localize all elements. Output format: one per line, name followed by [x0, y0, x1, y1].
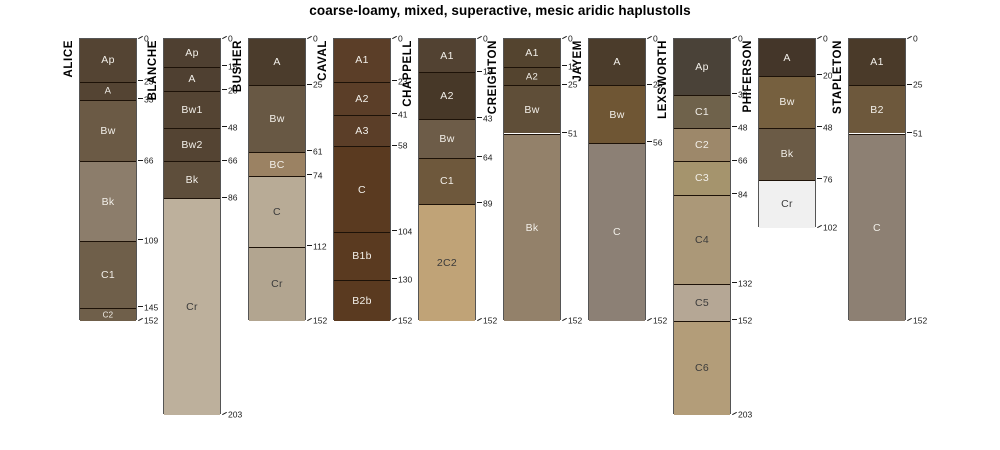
tick-value: 152 — [738, 315, 752, 325]
tick-value: 25 — [313, 80, 322, 90]
depth-tick-label: 74 — [307, 171, 322, 180]
horizon-label: C — [249, 206, 305, 218]
horizon-label: C — [849, 222, 905, 234]
soil-horizon: C3 — [674, 161, 730, 194]
tick-value: 89 — [483, 198, 492, 208]
soil-horizon: A1 — [849, 39, 905, 85]
depth-tick-label: 89 — [477, 199, 492, 208]
profile-column: ApABwBkC1C2 — [79, 38, 137, 320]
soil-horizon: B1b — [334, 232, 390, 280]
soil-horizon: 2C2 — [419, 204, 475, 321]
horizon-label: C2 — [80, 310, 136, 319]
tick-value: 51 — [568, 128, 577, 138]
tick-mark — [562, 318, 567, 321]
horizon-label: Bw — [759, 96, 815, 108]
depth-tick-label: 102 — [817, 223, 837, 232]
tick-mark — [307, 84, 312, 85]
tick-mark — [732, 319, 737, 320]
soil-horizon: A — [589, 39, 645, 85]
profile-name-label: CHAPPELL — [402, 40, 414, 107]
tick-mark — [477, 318, 482, 321]
horizon-label: B1b — [334, 250, 390, 262]
horizon-label: B2 — [849, 104, 905, 116]
tick-mark — [477, 117, 482, 118]
soil-horizon: A1 — [504, 39, 560, 67]
horizon-label: A — [589, 56, 645, 68]
tick-mark — [732, 412, 737, 415]
soil-horizon: A — [80, 82, 136, 101]
horizon-label: Bw1 — [164, 104, 220, 116]
depth-tick-label: 0 — [817, 34, 828, 43]
soil-horizon: Cr — [759, 180, 815, 228]
horizon-label: B2b — [334, 295, 390, 307]
tick-value: 41 — [398, 109, 407, 119]
tick-value: 112 — [313, 241, 327, 251]
tick-mark — [307, 245, 312, 246]
depth-tick-label: 104 — [392, 227, 412, 236]
profile-column: ABwBkCr — [758, 38, 816, 227]
tick-value: 66 — [738, 156, 747, 166]
horizon-label: A1 — [849, 56, 905, 68]
soil-horizon: C4 — [674, 195, 730, 284]
soil-horizon: Ap — [674, 39, 730, 95]
tick-mark — [222, 197, 227, 198]
tick-value: 152 — [483, 315, 497, 325]
depth-tick-label: 152 — [392, 316, 412, 325]
depth-tick-label: 25 — [307, 80, 322, 89]
page-title: coarse-loamy, mixed, superactive, mesic … — [0, 3, 1000, 18]
depth-tick-label: 86 — [222, 193, 237, 202]
soil-profile-chart: coarse-loamy, mixed, superactive, mesic … — [0, 0, 1000, 450]
horizon-label: 2C2 — [419, 257, 475, 269]
tick-mark — [222, 36, 227, 39]
tick-mark — [817, 36, 822, 39]
horizon-label: A2 — [504, 71, 560, 82]
profile-column: A1A2BwBk — [503, 38, 561, 320]
horizon-label: Bw — [419, 133, 475, 145]
horizon-label: Bk — [504, 222, 560, 234]
depth-tick-label: 51 — [907, 129, 922, 138]
depth-tick-label: 145 — [138, 303, 158, 312]
tick-value: 145 — [144, 302, 158, 312]
horizon-label: C — [334, 184, 390, 196]
tick-value: 58 — [398, 141, 407, 151]
profile-name-label: PHIFERSON — [742, 40, 754, 113]
profile-name-label: CAVAL — [317, 40, 329, 81]
depth-tick-label: 76 — [817, 175, 832, 184]
tick-mark — [138, 318, 143, 321]
soil-horizon: B2 — [849, 85, 905, 133]
tick-value: 74 — [313, 171, 322, 181]
tick-mark — [647, 36, 652, 39]
soil-horizon: C5 — [674, 284, 730, 321]
tick-value: 64 — [483, 152, 492, 162]
soil-horizon: C2 — [80, 308, 136, 321]
tick-mark — [477, 202, 482, 203]
soil-horizon: C — [849, 134, 905, 321]
tick-value: 152 — [398, 315, 412, 325]
depth-tick-label: 20 — [817, 71, 832, 80]
horizon-label: C1 — [674, 106, 730, 118]
depth-tick-label: 130 — [392, 275, 412, 284]
tick-mark — [392, 113, 397, 114]
soil-horizon: Bw — [249, 85, 305, 152]
soil-horizon: Cr — [249, 247, 305, 321]
tick-mark — [562, 132, 567, 133]
tick-mark — [222, 65, 227, 66]
profile-column: ApC1C2C3C4C5C6 — [673, 38, 731, 414]
tick-value: 0 — [913, 34, 918, 44]
depth-tick-label: 152 — [307, 316, 327, 325]
depth-tick-label: 0 — [907, 34, 918, 43]
tick-value: 48 — [228, 122, 237, 132]
soil-horizon: C — [589, 143, 645, 321]
depth-tick-label: 48 — [222, 123, 237, 132]
tick-mark — [732, 36, 737, 39]
tick-value: 48 — [738, 122, 747, 132]
tick-mark — [562, 84, 567, 85]
tick-mark — [307, 174, 312, 175]
tick-value: 56 — [653, 137, 662, 147]
depth-tick-label: 64 — [477, 153, 492, 162]
soil-horizon: C — [249, 176, 305, 246]
tick-mark — [477, 71, 482, 72]
horizon-label: A3 — [334, 125, 390, 137]
soil-horizon: Cr — [164, 198, 220, 415]
profile-name-label: LEXSWORTH — [657, 40, 669, 119]
profile-name-label: STAPLETON — [832, 40, 844, 114]
soil-horizon: Bw — [419, 119, 475, 158]
soil-horizon: B2b — [334, 280, 390, 321]
tick-mark — [138, 239, 143, 240]
soil-horizon: C — [334, 146, 390, 231]
soil-horizon: C1 — [674, 95, 730, 128]
profile-name-label: CREIGHTON — [487, 40, 499, 114]
depth-tick-label: 84 — [732, 190, 747, 199]
soil-horizon: Bk — [504, 134, 560, 321]
soil-horizon: A1 — [419, 39, 475, 72]
depth-tick-label: 51 — [562, 129, 577, 138]
soil-horizon: C6 — [674, 321, 730, 416]
tick-mark — [222, 126, 227, 127]
tick-mark — [817, 74, 822, 75]
tick-value: 66 — [144, 156, 153, 166]
tick-value: 152 — [568, 315, 582, 325]
tick-mark — [138, 80, 143, 81]
depth-tick-label: 43 — [477, 114, 492, 123]
tick-mark — [392, 230, 397, 231]
tick-mark — [477, 156, 482, 157]
tick-value: 0 — [823, 34, 828, 44]
tick-mark — [138, 36, 143, 39]
tick-value: 152 — [313, 315, 327, 325]
tick-mark — [817, 225, 822, 228]
soil-horizon: A2 — [334, 82, 390, 115]
horizon-label: Ap — [164, 47, 220, 59]
soil-horizon: Bw2 — [164, 128, 220, 161]
tick-mark — [732, 93, 737, 94]
tick-value: 76 — [823, 174, 832, 184]
depth-tick-label: 152 — [907, 316, 927, 325]
tick-value: 203 — [738, 410, 752, 420]
depth-tick-label: 25 — [907, 80, 922, 89]
tick-mark — [647, 84, 652, 85]
depth-tick-label: 152 — [732, 316, 752, 325]
depth-tick-label: 48 — [732, 123, 747, 132]
soil-horizon: Bk — [759, 128, 815, 180]
horizon-label: Cr — [759, 198, 815, 210]
horizon-label: A2 — [334, 93, 390, 105]
horizon-label: C2 — [674, 139, 730, 151]
depth-tick-label: 25 — [562, 80, 577, 89]
depth-tick-label: 66 — [222, 156, 237, 165]
tick-mark — [907, 132, 912, 133]
tick-mark — [222, 412, 227, 415]
tick-value: 48 — [823, 122, 832, 132]
horizon-label: Bk — [164, 174, 220, 186]
tick-value: 43 — [483, 113, 492, 123]
tick-value: 109 — [144, 235, 158, 245]
horizon-label: A — [80, 86, 136, 97]
horizon-label: A — [759, 52, 815, 64]
horizon-label: Bw — [249, 113, 305, 125]
profile-column: ABwBCCCr — [248, 38, 306, 320]
horizon-label: C1 — [419, 175, 475, 187]
depth-tick-label: 203 — [222, 410, 242, 419]
horizon-label: Bk — [759, 148, 815, 160]
tick-value: 86 — [228, 193, 237, 203]
tick-mark — [732, 160, 737, 161]
tick-mark — [907, 36, 912, 39]
depth-tick-label: 56 — [647, 138, 662, 147]
soil-horizon: C2 — [674, 128, 730, 161]
depth-tick-label: 152 — [138, 316, 158, 325]
soil-horizon: A — [759, 39, 815, 76]
tick-mark — [477, 36, 482, 39]
tick-mark — [732, 126, 737, 127]
tick-value: 203 — [228, 410, 242, 420]
horizon-label: C — [589, 226, 645, 238]
tick-mark — [392, 278, 397, 279]
horizon-label: Bw — [504, 104, 560, 116]
profile-name-label: BUSHER — [232, 40, 244, 92]
tick-mark — [138, 98, 143, 99]
soil-horizon: Bw — [80, 100, 136, 161]
tick-value: 102 — [823, 223, 837, 233]
soil-horizon: A — [164, 67, 220, 91]
horizon-label: C4 — [674, 234, 730, 246]
depth-tick-label: 152 — [647, 316, 667, 325]
tick-mark — [907, 84, 912, 85]
tick-mark — [307, 36, 312, 39]
soil-horizon: A3 — [334, 115, 390, 147]
profile-column: A1A2A3CB1bB2b — [333, 38, 391, 320]
soil-horizon: Bw — [504, 85, 560, 133]
depth-tick-label: 203 — [732, 410, 752, 419]
tick-value: 51 — [913, 128, 922, 138]
depth-tick-label: 109 — [138, 236, 158, 245]
soil-horizon: Bk — [164, 161, 220, 198]
horizon-label: A1 — [504, 47, 560, 59]
tick-mark — [307, 318, 312, 321]
tick-mark — [817, 126, 822, 127]
soil-horizon: Bw1 — [164, 91, 220, 128]
horizon-label: Bw2 — [164, 139, 220, 151]
tick-mark — [562, 65, 567, 66]
tick-mark — [138, 160, 143, 161]
tick-mark — [732, 282, 737, 283]
horizon-label: A — [164, 73, 220, 85]
soil-horizon: A1 — [334, 39, 390, 82]
tick-mark — [647, 141, 652, 142]
tick-mark — [562, 36, 567, 39]
soil-horizon: BC — [249, 152, 305, 176]
depth-tick-label: 61 — [307, 147, 322, 156]
horizon-label: Bw — [80, 125, 136, 137]
tick-mark — [392, 36, 397, 39]
soil-horizon: Bw — [759, 76, 815, 128]
depth-tick-label: 112 — [307, 242, 327, 251]
tick-mark — [222, 160, 227, 161]
soil-horizon: A2 — [504, 67, 560, 86]
tick-mark — [138, 306, 143, 307]
depth-tick-label: 132 — [732, 279, 752, 288]
depth-tick-label: 58 — [392, 141, 407, 150]
soil-horizon: Ap — [164, 39, 220, 67]
horizon-label: Ap — [674, 61, 730, 73]
profile-name-label: ALICE — [63, 40, 75, 78]
tick-mark — [817, 178, 822, 179]
profile-column: ABwC — [588, 38, 646, 320]
horizon-label: A1 — [334, 54, 390, 66]
horizon-label: Ap — [80, 54, 136, 66]
tick-value: 25 — [913, 80, 922, 90]
tick-value: 104 — [398, 226, 412, 236]
horizon-label: Bk — [80, 196, 136, 208]
profile-column: ApABw1Bw2BkCr — [163, 38, 221, 414]
tick-value: 61 — [313, 147, 322, 157]
depth-tick-label: 66 — [732, 156, 747, 165]
tick-mark — [907, 318, 912, 321]
horizon-label: Cr — [164, 301, 220, 313]
soil-horizon: A — [249, 39, 305, 85]
tick-value: 132 — [738, 278, 752, 288]
tick-value: 152 — [913, 315, 927, 325]
depth-tick-label: 41 — [392, 110, 407, 119]
horizon-label: BC — [249, 159, 305, 171]
horizon-label: A1 — [419, 50, 475, 62]
profile-name-label: JAYEM — [572, 40, 584, 82]
tick-mark — [307, 150, 312, 151]
depth-tick-label: 48 — [817, 123, 832, 132]
tick-value: 152 — [653, 315, 667, 325]
horizon-label: C6 — [674, 362, 730, 374]
horizon-label: A — [249, 56, 305, 68]
horizon-label: C3 — [674, 172, 730, 184]
profile-column: A1A2BwC12C2 — [418, 38, 476, 320]
tick-mark — [222, 89, 227, 90]
horizon-label: Bw — [589, 109, 645, 121]
soil-horizon: Ap — [80, 39, 136, 82]
soil-horizon: A2 — [419, 72, 475, 118]
horizon-label: Cr — [249, 278, 305, 290]
depth-tick-label: 66 — [138, 156, 153, 165]
horizon-label: C1 — [80, 269, 136, 281]
depth-tick-label: 152 — [562, 316, 582, 325]
profile-name-label: BLANCHE — [147, 40, 159, 100]
tick-value: 84 — [738, 189, 747, 199]
tick-value: 66 — [228, 156, 237, 166]
tick-mark — [732, 193, 737, 194]
tick-mark — [392, 145, 397, 146]
depth-tick-label: 152 — [477, 316, 497, 325]
soil-horizon: C1 — [80, 241, 136, 308]
soil-horizon: Bw — [589, 85, 645, 142]
soil-horizon: Bk — [80, 161, 136, 241]
horizon-label: A2 — [419, 90, 475, 102]
soil-horizon: C1 — [419, 158, 475, 204]
tick-mark — [647, 318, 652, 321]
horizon-label: C5 — [674, 297, 730, 309]
tick-mark — [392, 80, 397, 81]
tick-value: 152 — [144, 315, 158, 325]
tick-value: 130 — [398, 274, 412, 284]
tick-mark — [392, 318, 397, 321]
profile-column: A1B2C — [848, 38, 906, 320]
